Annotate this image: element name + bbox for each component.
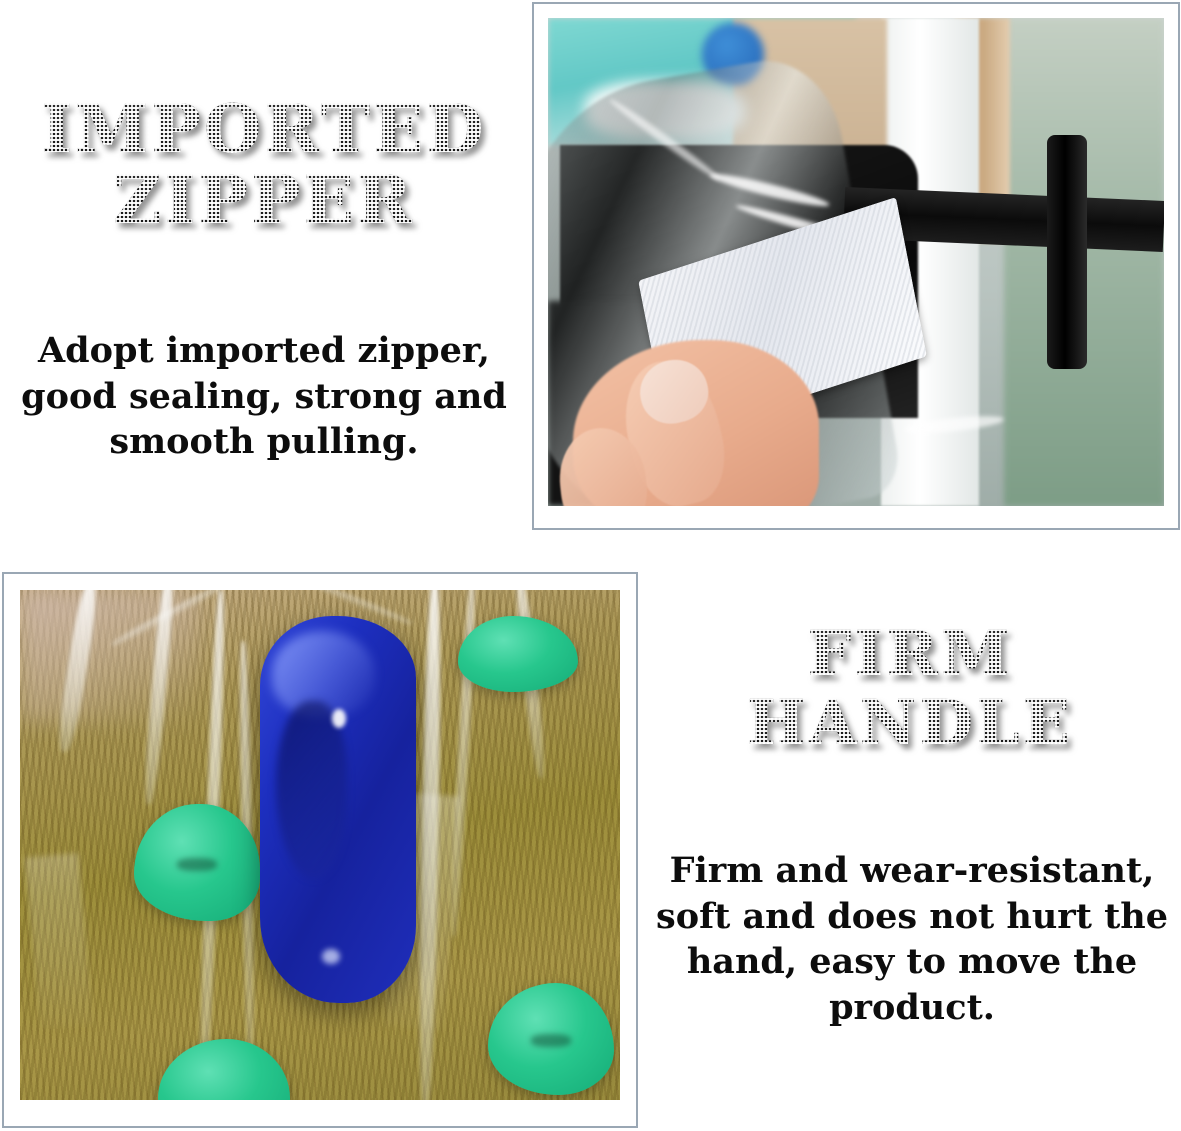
zipper-photo [548,18,1164,506]
suction-cup-bottom-right-mark [531,1034,571,1046]
zipper-heading: IMPORTED ZIPPER [0,96,528,235]
handle-specular-1 [332,709,346,728]
zipper-body-text: Adopt imported zipper, good sealing, str… [6,328,522,465]
handle-specular-2 [322,949,339,965]
black-zipper-pull [1047,135,1087,369]
handle-body-text: Firm and wear-resistant, soft and does n… [650,848,1174,1030]
blue-handle [260,616,416,1004]
zipper-heading-line-1: IMPORTED [0,96,528,163]
handle-heading: FIRM HANDLE [648,622,1172,754]
handle-photo [20,590,620,1100]
handle-heading-line-1: FIRM [648,622,1172,685]
zipper-photo-frame [532,2,1180,530]
suction-cup-left-mark [177,858,217,871]
handle-heading-line-2: HANDLE [648,691,1172,754]
zipper-heading-line-2: ZIPPER [0,167,528,234]
handle-photo-frame [2,572,638,1128]
